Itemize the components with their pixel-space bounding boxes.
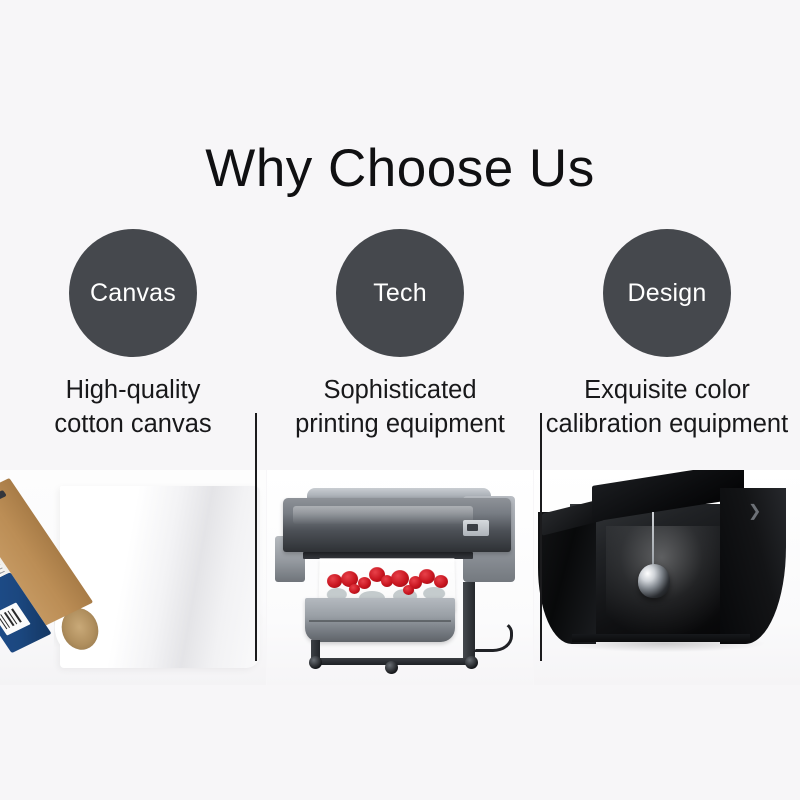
printer-power-cable: [473, 620, 513, 652]
printer-tray-seam: [309, 620, 451, 622]
canvas-roll-illustration: [0, 470, 266, 685]
page-title: Why Choose Us: [0, 140, 800, 198]
feature-column-canvas: Canvas High-quality cotton canvas: [0, 215, 266, 685]
caption-line: Exquisite color: [526, 374, 800, 408]
feature-column-tech: Tech Sophisticated printing equipment: [267, 215, 533, 685]
sensor-cord: [652, 512, 654, 568]
product-image-printer: [267, 470, 533, 685]
why-choose-us-poster: Why Choose Us Canvas High-quality cotton…: [0, 0, 800, 800]
product-image-canvas-roll: [0, 470, 266, 685]
caption-line: High-quality: [0, 374, 274, 408]
printer-caster: [385, 661, 398, 674]
caption-line: calibration equipment: [526, 408, 800, 442]
badge-label: Tech: [373, 281, 427, 306]
caption-line: Sophisticated: [259, 374, 541, 408]
printer-body-highlight: [293, 506, 473, 524]
product-image-calibration-hood: ❯: [534, 470, 800, 685]
printer-caster: [465, 656, 478, 669]
caption-line: cotton canvas: [0, 408, 274, 442]
printer-illustration: [267, 470, 533, 685]
feature-caption-design: Exquisite color calibration equipment: [526, 374, 800, 441]
caption-line: printing equipment: [259, 408, 541, 442]
badge-label: Canvas: [90, 281, 176, 306]
badge-circle-design[interactable]: Design: [603, 229, 731, 357]
badge-circle-tech[interactable]: Tech: [336, 229, 464, 357]
hood-floor: [572, 634, 750, 642]
feature-caption-canvas: High-quality cotton canvas: [0, 374, 274, 441]
feature-caption-tech: Sophisticated printing equipment: [259, 374, 541, 441]
badge-circle-canvas[interactable]: Canvas: [69, 229, 197, 357]
hood-brand-logo: ❯: [748, 504, 764, 520]
badge-label: Design: [627, 281, 706, 306]
printer-caster: [309, 656, 322, 669]
column-divider: [255, 413, 257, 661]
calibration-hood-illustration: ❯: [534, 470, 800, 685]
column-divider: [540, 413, 542, 661]
colorimeter-sensor: [638, 564, 670, 598]
printer-panel-screen: [467, 524, 478, 531]
carton-logo: [0, 490, 7, 501]
feature-column-design: Design Exquisite color calibration equip…: [534, 215, 800, 685]
